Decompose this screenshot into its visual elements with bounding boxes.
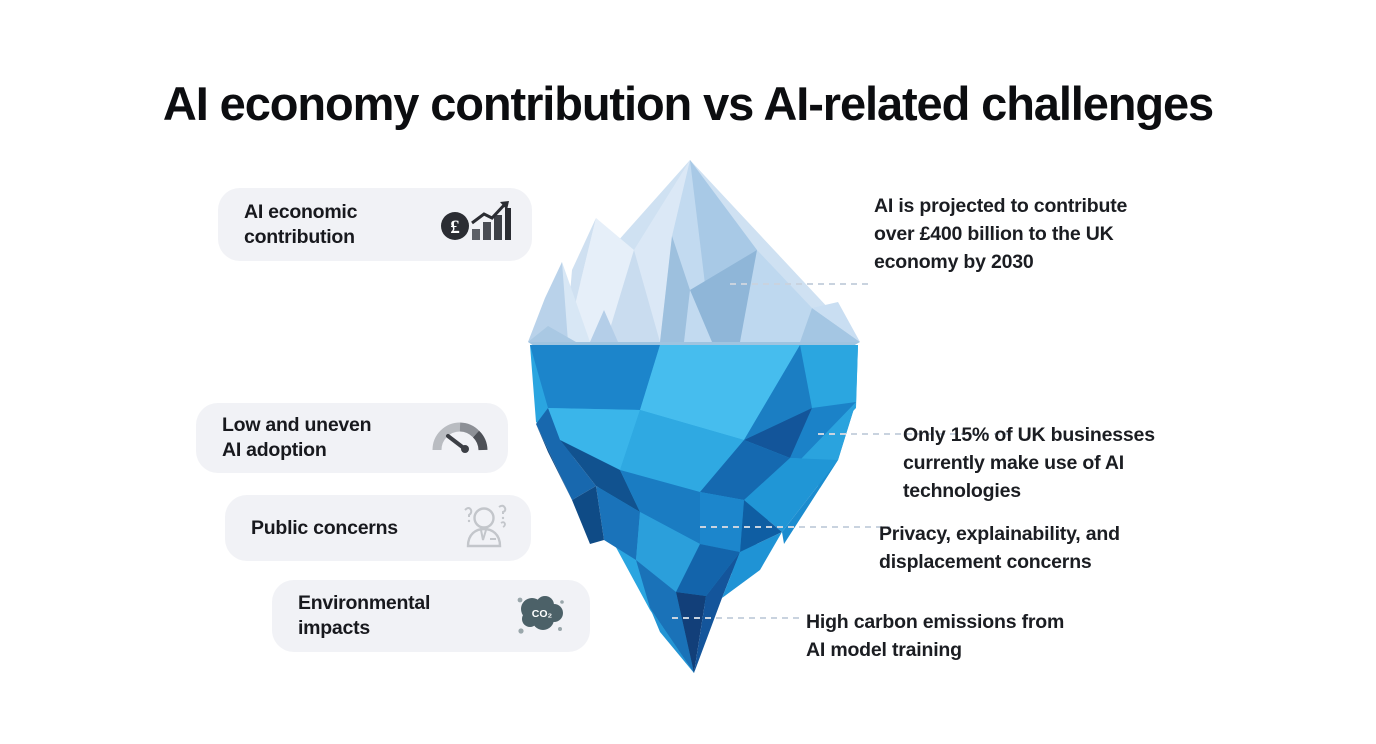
badge-low-uneven-ai-adoption[interactable]: Low and uneven AI adoption — [196, 403, 508, 473]
gauge-meter-icon — [432, 416, 488, 461]
badge-label-environment: Environmental impacts — [298, 591, 430, 641]
badge-label-economic: AI economic contribution — [244, 200, 357, 250]
note-ai-adoption: Only 15% of UK businesses currently make… — [903, 421, 1203, 505]
svg-text:£: £ — [450, 217, 460, 238]
iceberg-above-water — [528, 160, 860, 350]
co2-cloud-icon: CO₂ — [510, 590, 570, 643]
badge-public-concerns[interactable]: Public concerns — [225, 495, 531, 561]
note-carbon-emissions: High carbon emissions from AI model trai… — [806, 608, 1126, 664]
worried-person-question-icon — [457, 504, 511, 553]
note-ai-economic-contribution: AI is projected to contribute over £400 … — [874, 192, 1204, 276]
badge-label-public: Public concerns — [251, 516, 398, 541]
badge-ai-economic-contribution[interactable]: AI economic contribution £ — [218, 188, 532, 261]
note-public-concerns: Privacy, explainability, and displacemen… — [879, 520, 1179, 576]
badge-environmental-impacts[interactable]: Environmental impacts CO₂ — [272, 580, 590, 652]
page-title: AI economy contribution vs AI-related ch… — [0, 75, 1376, 133]
badge-label-adoption: Low and uneven AI adoption — [222, 413, 371, 463]
co2-icon-label: CO₂ — [532, 608, 553, 620]
iceberg-infographic: AI economic contribution £ Low and uneve… — [0, 140, 1376, 700]
pound-growth-chart-icon: £ — [440, 201, 512, 248]
